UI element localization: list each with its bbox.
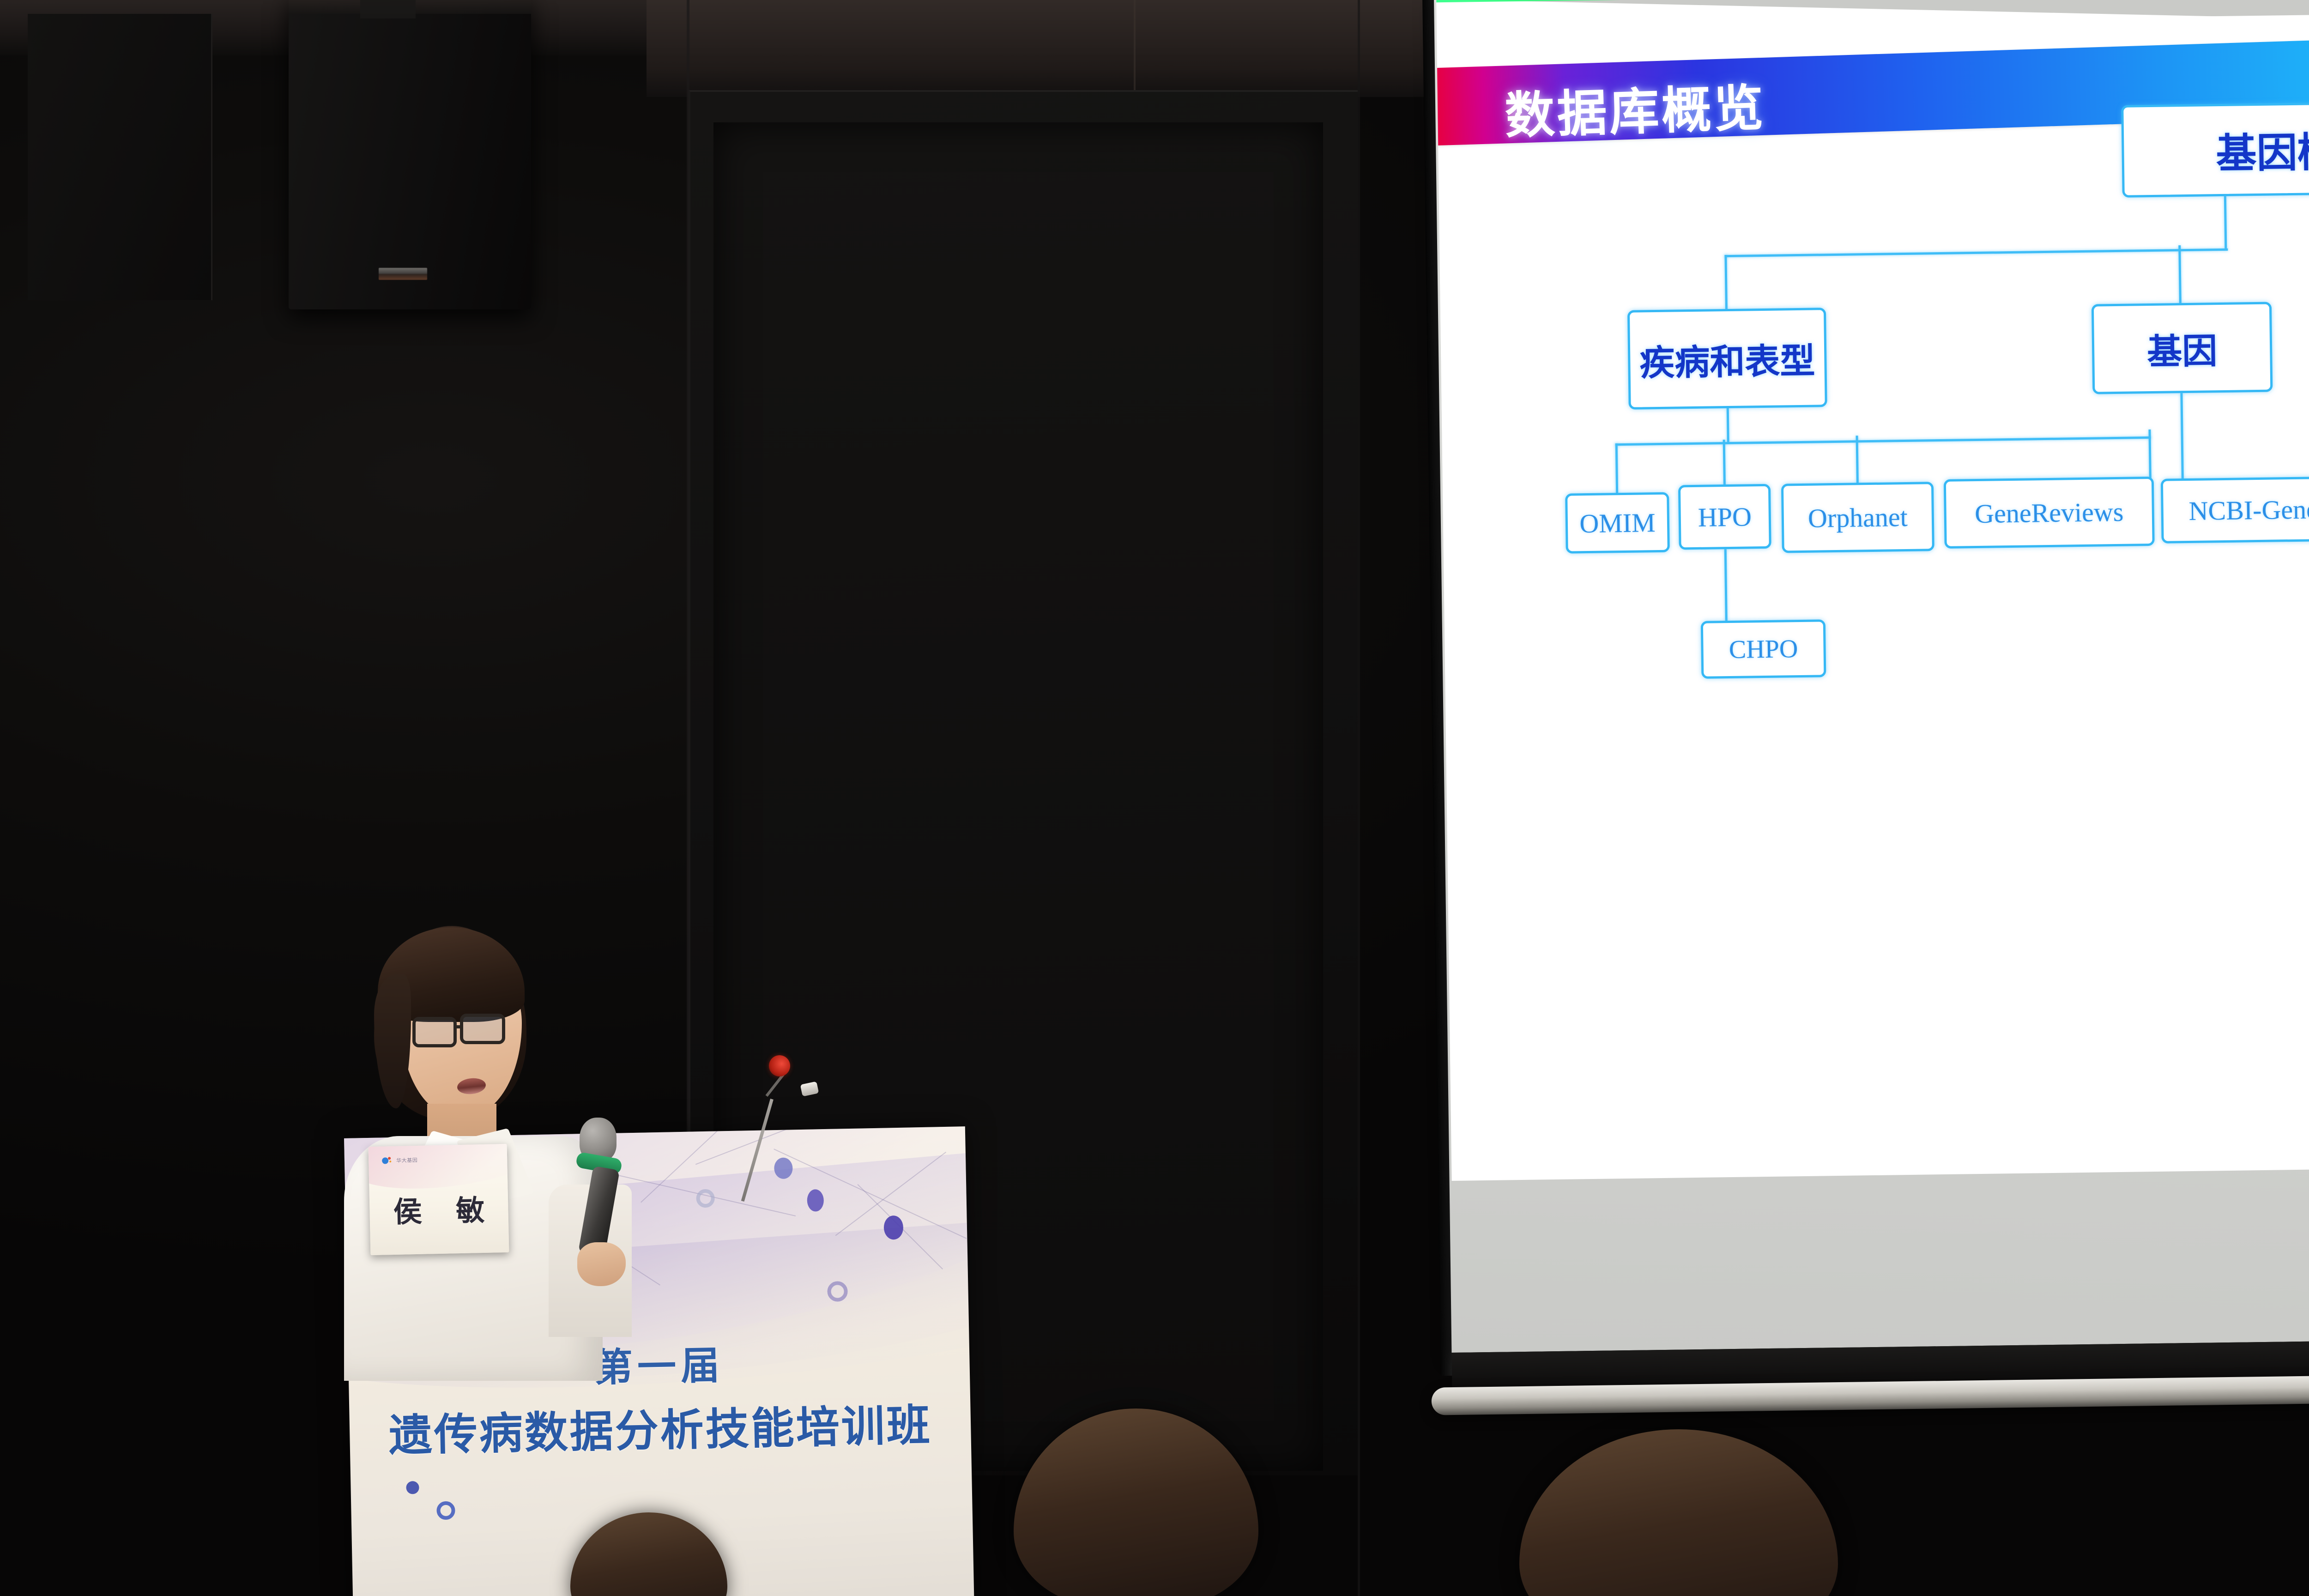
ceiling-light-band-2 xyxy=(647,0,1432,97)
edge-to-omim xyxy=(1615,443,1618,494)
slide-canvas: 数据库概览 xyxy=(1437,13,2309,1112)
diagram-node-root: 基因检测 xyxy=(2121,101,2309,198)
podium-banner-line-2: 遗传病数据分析技能培训班 xyxy=(349,1390,971,1464)
network-node-dot xyxy=(406,1481,419,1494)
edge-to-gene xyxy=(2178,245,2182,304)
org-logo-text: 华大基因 xyxy=(396,1156,417,1164)
microphone-windscreen-icon xyxy=(769,1055,790,1076)
presentation-photo-stage: 数据库概览 xyxy=(0,0,2309,1596)
diagram-node-omim: OMIM xyxy=(1565,492,1670,554)
edge-to-genereviews xyxy=(2148,429,2151,478)
edge-gene-to-ncbigene xyxy=(2180,393,2183,480)
projected-image-area: 数据库概览 xyxy=(1436,0,2309,1181)
glasses-icon xyxy=(412,1017,457,1047)
diagram-node-ncbi-gene: NCBI-Gene xyxy=(2161,477,2309,544)
diagram-node-gene: 基因 xyxy=(2091,302,2273,394)
ceiling-speaker-icon xyxy=(289,0,531,309)
edge-to-hpo xyxy=(1723,440,1726,486)
edge-disease-stem xyxy=(1727,408,1729,443)
diagram-node-chpo: CHPO xyxy=(1701,619,1826,679)
diagram-node-orphanet: Orphanet xyxy=(1781,482,1934,553)
edge-disease-spine xyxy=(1615,436,2151,446)
speaker-grille xyxy=(28,14,212,300)
glasses-bridge xyxy=(456,1025,462,1028)
projection-screen: 数据库概览 xyxy=(1408,0,2309,1432)
wall-seam-right xyxy=(1358,0,1360,1596)
database-overview-diagram: 基因检测 疾病和表型 基因 OMIM HPO Orphanet GeneRevi… xyxy=(1437,13,2309,1112)
speaker-mount-bracket xyxy=(360,0,416,18)
diagram-node-genereviews: GeneReviews xyxy=(1944,477,2155,549)
presenter-name: 侯 敏 xyxy=(369,1186,508,1231)
glasses-icon xyxy=(460,1014,505,1044)
speaker-brand-badge xyxy=(379,268,427,280)
wall-seam xyxy=(1134,0,1136,92)
edge-root-spine xyxy=(1724,248,2228,257)
edge-hpo-to-chpo xyxy=(1724,549,1728,622)
diagram-node-hpo: HPO xyxy=(1678,484,1771,550)
edge-to-disease xyxy=(1724,255,1728,310)
edge-to-orphanet xyxy=(1856,435,1859,484)
network-node-ring xyxy=(436,1501,455,1520)
diagram-node-disease-and-phenotype: 疾病和表型 xyxy=(1627,308,1827,410)
edge-root-stem xyxy=(2224,196,2227,249)
presenter-hand xyxy=(577,1242,626,1286)
name-card: 华大基因 侯 敏 xyxy=(369,1144,509,1255)
org-logo-icon xyxy=(381,1155,392,1166)
